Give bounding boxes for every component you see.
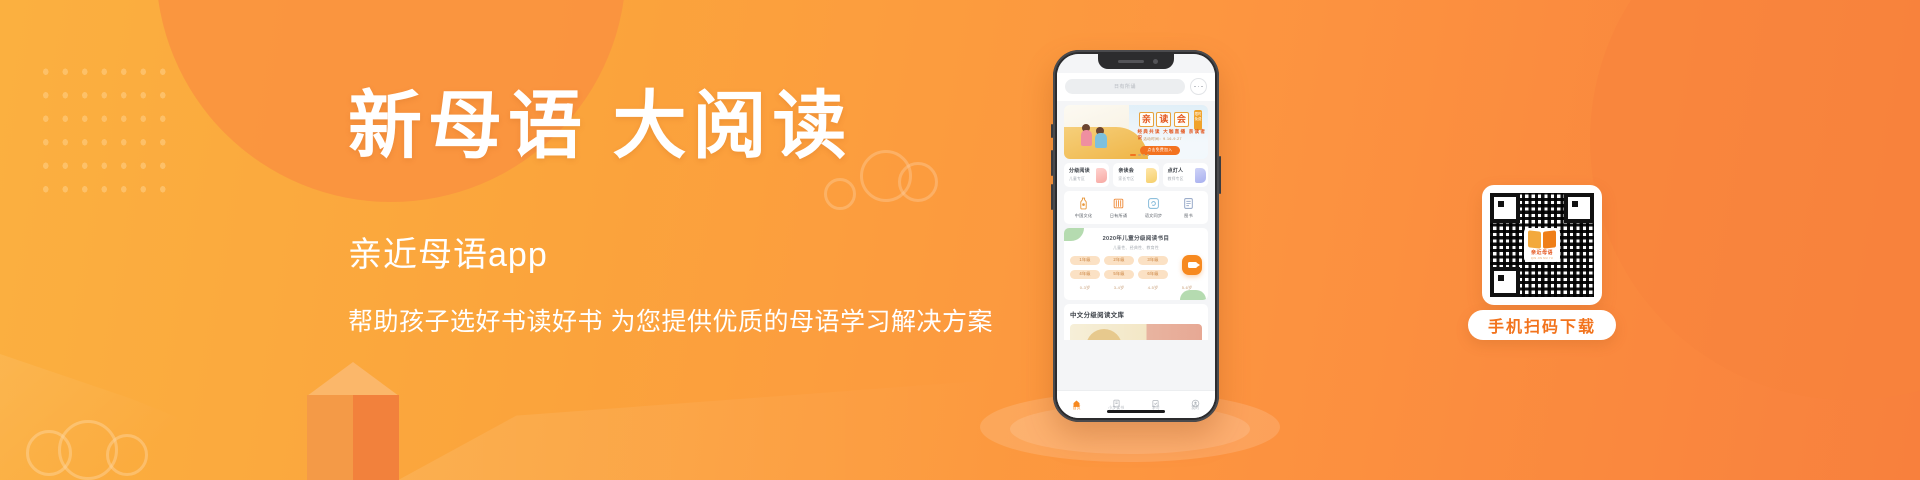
grade-pill[interactable]: 4年级 <box>1070 270 1100 279</box>
wave-decoration <box>0 300 330 480</box>
qr-logo-pinyin: QIN JIN MU YU <box>1531 257 1553 260</box>
tab-study[interactable]: 学习 <box>1136 391 1176 412</box>
age-pill[interactable]: 5-6岁 <box>1172 284 1202 293</box>
tab-label: 我的 <box>1176 406 1216 411</box>
hero-carousel-banner[interactable]: 亲 读 会 限时免费 经典共读 大咖直播 亲读者说 活动时间：9.16-9.27… <box>1064 105 1208 159</box>
hero-title-char: 亲 <box>1139 112 1154 127</box>
dot-grid-decoration <box>36 60 176 208</box>
tab-home[interactable]: 首页 <box>1057 391 1097 412</box>
phone-mockup: 日有所诵 亲 读 会 限时免费 经典共读 大咖直播 亲读者说 <box>1053 50 1219 422</box>
hero-title: 亲 读 会 <box>1139 112 1189 127</box>
open-book-logo-icon <box>1528 231 1556 248</box>
quick-icon-row: 中国文化 日有所诵 语文同步 <box>1064 191 1208 224</box>
book-icon <box>1146 168 1157 183</box>
age-pill[interactable]: 0-3岁 <box>1070 284 1100 293</box>
banner-description: 帮助孩子选好书读好书 为您提供优质的母语学习解决方案 <box>348 306 1008 339</box>
tab-reading[interactable]: 小步读书 <box>1097 391 1137 412</box>
video-play-icon[interactable] <box>1182 255 1202 275</box>
checklist-icon <box>1151 395 1160 404</box>
grade-pill[interactable]: 3年级 <box>1138 256 1168 265</box>
tab-label: 首页 <box>1057 406 1097 411</box>
booklist-title: 2020年儿童分级阅读书目 <box>1070 234 1202 242</box>
grade-pill[interactable]: 2年级 <box>1104 256 1134 265</box>
promo-banner: 新母语 大阅读 亲近母语app 帮助孩子选好书读好书 为您提供优质的母语学习解决… <box>0 0 1920 480</box>
quick-icon-label: 日有所诵 <box>1101 213 1136 219</box>
feature-card[interactable]: 分级阅读 儿童专区 <box>1064 163 1109 187</box>
carousel-dots[interactable] <box>1130 154 1149 156</box>
library-title: 中文分级阅读文库 <box>1070 310 1202 319</box>
quick-icon-label: 中国文化 <box>1066 213 1101 219</box>
quick-icon-label: 语文同步 <box>1136 213 1171 219</box>
book-icon <box>1195 168 1206 183</box>
home-icon <box>1072 395 1081 404</box>
book-icon <box>1096 168 1107 183</box>
quick-icon-label: 图书 <box>1171 213 1206 219</box>
document-icon <box>1182 197 1195 210</box>
cube-decoration <box>307 362 399 480</box>
quick-icon-item[interactable]: 图书 <box>1171 197 1206 219</box>
library-cover-strip[interactable] <box>1070 324 1202 340</box>
quick-icon-item[interactable]: 语文同步 <box>1136 197 1171 219</box>
search-placeholder: 日有所诵 <box>1114 83 1136 90</box>
feature-card[interactable]: 亲读会 家长专区 <box>1113 163 1158 187</box>
hero-date: 活动时间：9.16-9.27 <box>1143 137 1182 142</box>
grade-pill[interactable]: 1年级 <box>1070 256 1100 265</box>
library-section: 中文分级阅读文库 <box>1064 304 1208 340</box>
bottom-tab-bar: 首页 小步读书 学习 <box>1057 390 1215 418</box>
hero-title-char: 会 <box>1174 112 1189 127</box>
qr-center-logo: 亲近母语 QIN JIN MU YU <box>1524 228 1560 262</box>
banner-copy: 新母语 大阅读 亲近母语app 帮助孩子选好书读好书 为您提供优质的母语学习解决… <box>348 86 1008 338</box>
phone-volume-down-button <box>1051 184 1053 210</box>
grade-pill[interactable]: 5年级 <box>1104 270 1134 279</box>
feature-card[interactable]: 点灯人 教师专区 <box>1163 163 1208 187</box>
book-stripe-icon <box>1112 197 1125 210</box>
age-pill[interactable]: 4-5岁 <box>1138 284 1168 293</box>
decorative-circle-right <box>1590 0 1920 400</box>
phone-volume-up-button <box>1051 150 1053 176</box>
hero-tag-badge: 限时免费 <box>1194 110 1202 130</box>
quick-icon-item[interactable]: 中国文化 <box>1066 197 1101 219</box>
phone-power-button <box>1219 156 1221 194</box>
phone-screen: 日有所诵 亲 读 会 限时免费 经典共读 大咖直播 亲读者说 <box>1057 54 1215 418</box>
ribbon-decoration <box>380 370 1000 480</box>
age-row: 0-3岁 3-4岁 4-5岁 5-6岁 <box>1070 284 1202 293</box>
qr-code-card[interactable]: 亲近母语 QIN JIN MU YU <box>1482 185 1602 305</box>
search-row: 日有所诵 <box>1057 73 1215 101</box>
home-indicator <box>1107 410 1165 413</box>
download-button-label: 手机扫码下载 <box>1488 313 1596 337</box>
book-icon <box>1112 395 1121 404</box>
grade-pill[interactable]: 6年级 <box>1138 270 1168 279</box>
qr-finder-pattern <box>1490 267 1520 297</box>
qr-code-image: 亲近母语 QIN JIN MU YU <box>1490 193 1594 297</box>
qr-finder-pattern <box>1564 193 1594 223</box>
app-home-screen: 日有所诵 亲 读 会 限时免费 经典共读 大咖直播 亲读者说 <box>1057 54 1215 418</box>
qr-finder-pattern <box>1490 193 1520 223</box>
hero-title-char: 读 <box>1156 112 1171 127</box>
feature-card-row: 分级阅读 儿童专区 亲读会 家长专区 点灯人 教师专区 <box>1064 163 1208 187</box>
refresh-circle-icon <box>1147 197 1160 210</box>
search-input[interactable]: 日有所诵 <box>1065 79 1185 94</box>
quick-icon-item[interactable]: 日有所诵 <box>1101 197 1136 219</box>
phone-silent-switch <box>1051 124 1053 138</box>
booklist-subtitle: 儿童性、经典性、教育性 <box>1070 245 1202 251</box>
tab-profile[interactable]: 我的 <box>1176 391 1216 412</box>
person-icon <box>1191 395 1200 404</box>
app-name-subtitle: 亲近母语app <box>348 235 1008 276</box>
phone-notch <box>1098 54 1174 69</box>
download-button[interactable]: 手机扫码下载 <box>1468 310 1616 340</box>
more-dots-icon[interactable] <box>1190 78 1207 95</box>
booklist-card: 2020年儿童分级阅读书目 儿童性、经典性、教育性 1年级 2年级 3年级 4年… <box>1064 228 1208 300</box>
age-pill[interactable]: 3-4岁 <box>1104 284 1134 293</box>
vase-icon <box>1077 197 1090 210</box>
page-title: 新母语 大阅读 <box>348 86 1008 169</box>
qr-logo-name: 亲近母语 <box>1531 249 1553 256</box>
